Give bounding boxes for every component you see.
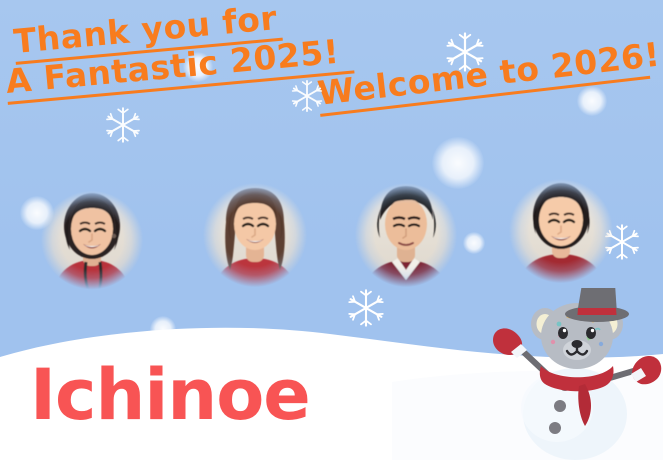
snowman-mascot — [487, 288, 663, 460]
soft-snow-dot — [577, 86, 607, 116]
headline-line-3: Welcome to 2026! — [316, 35, 663, 117]
soft-snow-dot — [432, 137, 484, 189]
snowman-button — [554, 400, 566, 412]
snowman-eye — [558, 327, 568, 339]
snowman-right-mitten — [631, 356, 661, 384]
brand-name: Ichinoe — [30, 360, 310, 430]
headline-line-3-text: Welcome to 2026! — [316, 35, 662, 113]
soft-snow-dot — [463, 232, 485, 254]
portrait-person-2 — [196, 176, 314, 294]
portrait-person-4 — [502, 172, 620, 290]
snowflake-icon — [103, 105, 143, 145]
snowman-eye — [586, 327, 596, 339]
greeting-card: Thank you for A Fantastic 2025! Welcome … — [0, 0, 663, 460]
snowman-left-mitten — [493, 328, 527, 358]
portrait-person-3 — [348, 176, 464, 294]
portrait-person-1 — [34, 184, 150, 296]
snowman-button — [549, 422, 561, 434]
